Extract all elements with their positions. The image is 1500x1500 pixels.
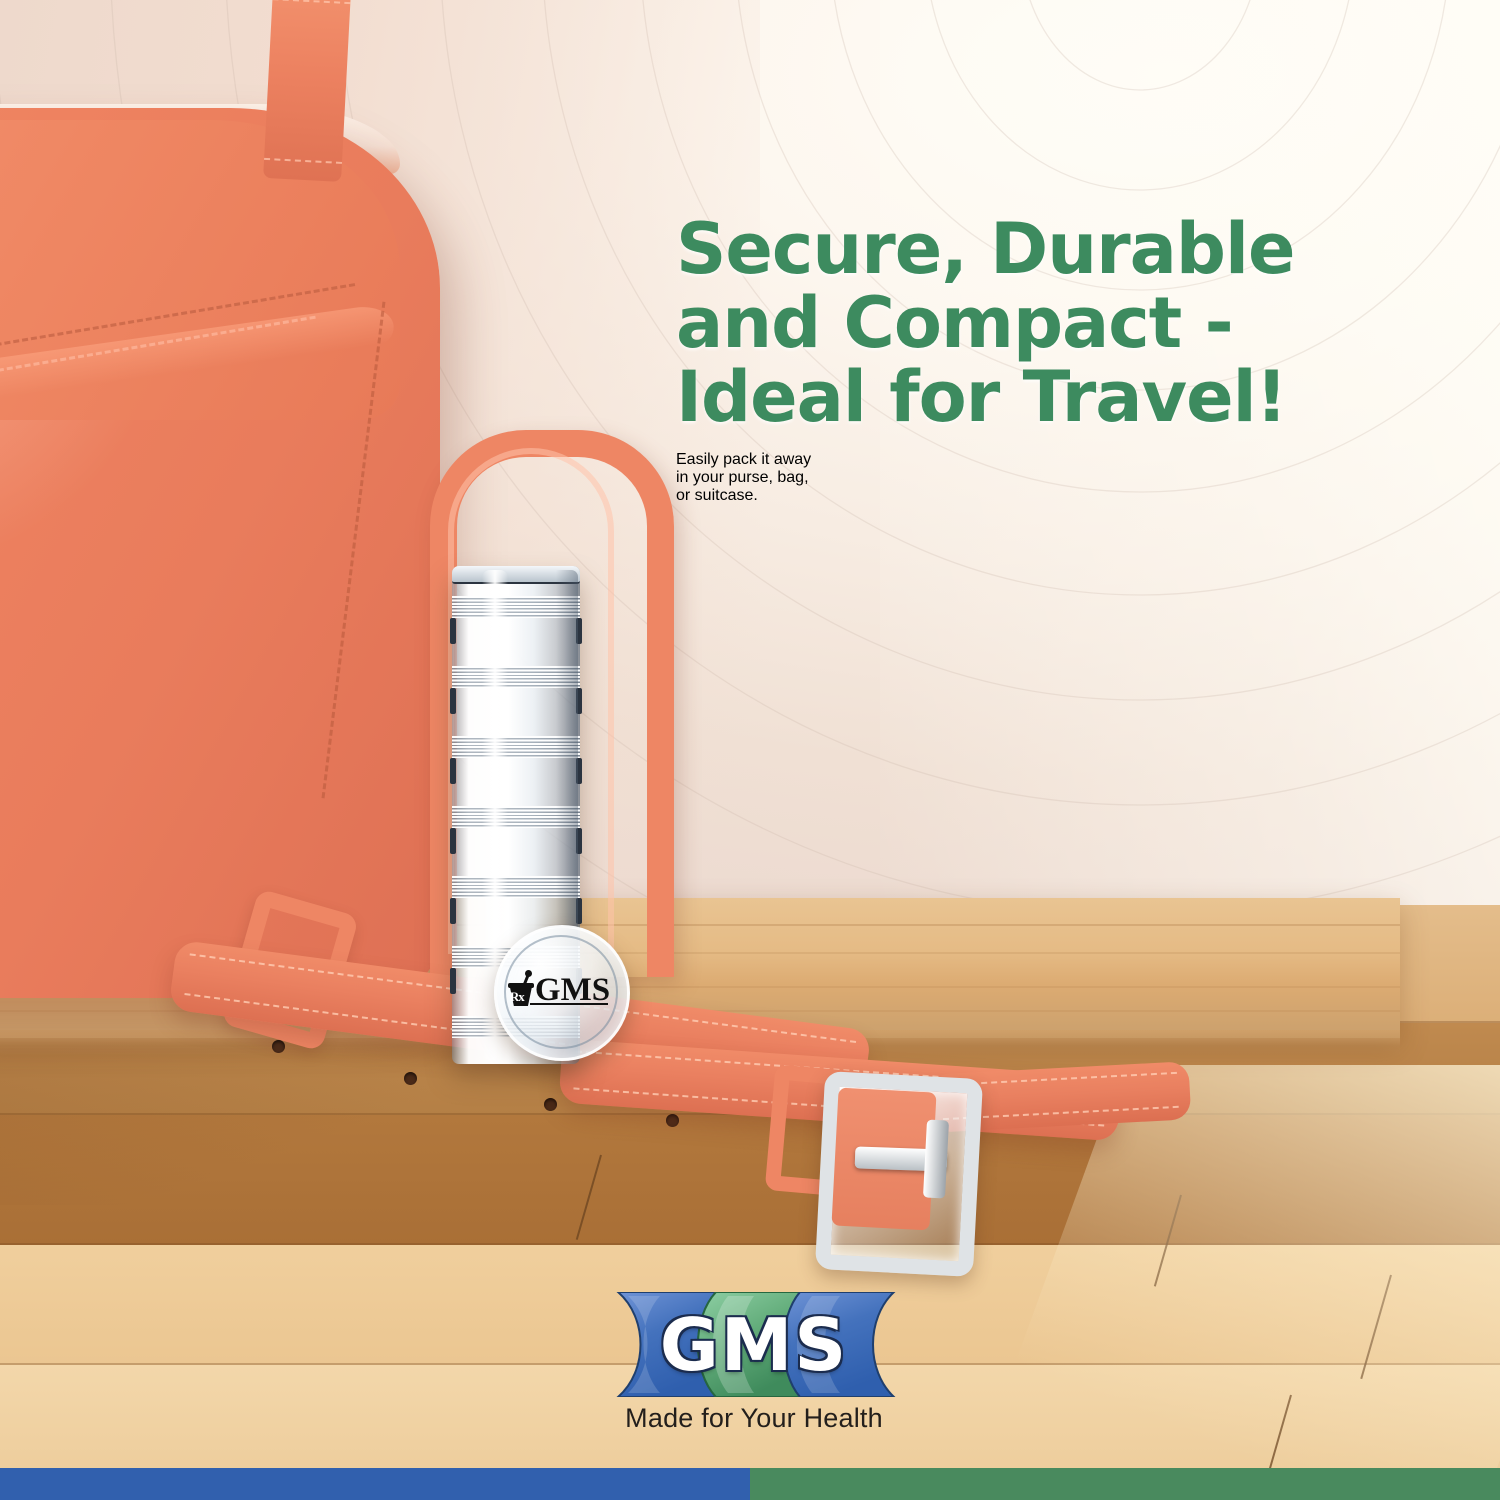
subcopy-line-3: or suitcase. xyxy=(676,487,1446,505)
strap-hole xyxy=(404,1072,417,1085)
marketing-copy: Secure, Durable and Compact - Ideal for … xyxy=(676,212,1446,521)
strap-hole xyxy=(666,1114,679,1127)
bottom-color-bar xyxy=(0,1468,1500,1500)
cap-gms-label: GMS xyxy=(535,974,610,1007)
gms-logo-letters: GMS xyxy=(604,1292,904,1397)
strap-hole xyxy=(272,1040,285,1053)
brand-logo: GMS Made for Your Health xyxy=(604,1292,904,1442)
purse-strap-top xyxy=(263,0,351,182)
promo-image: Rx GMS Secure, Durable and Compact - Ide… xyxy=(0,0,1500,1500)
bottom-bar-green xyxy=(750,1468,1500,1500)
mortar-pestle-rx-icon: Rx xyxy=(508,973,534,1007)
subcopy-line-1: Easily pack it away xyxy=(676,451,1446,469)
strap-hole xyxy=(544,1098,557,1111)
gms-logo-mark: GMS xyxy=(604,1292,904,1397)
headline-line-3: Ideal for Travel! xyxy=(676,360,1446,434)
headline-line-1: Secure, Durable xyxy=(676,212,1446,286)
headline: Secure, Durable and Compact - Ideal for … xyxy=(676,212,1446,435)
headline-line-2: and Compact - xyxy=(676,286,1446,360)
bottom-bar-blue xyxy=(0,1468,750,1500)
cap-logo-underline xyxy=(530,1003,608,1005)
buckle-bar xyxy=(923,1119,949,1198)
cap-rx-label: Rx xyxy=(510,989,524,1005)
subcopy-line-2: in your purse, bag, xyxy=(676,469,1446,487)
cap-brand-logo: Rx GMS xyxy=(504,960,614,1020)
brand-tagline: Made for Your Health xyxy=(604,1403,904,1434)
